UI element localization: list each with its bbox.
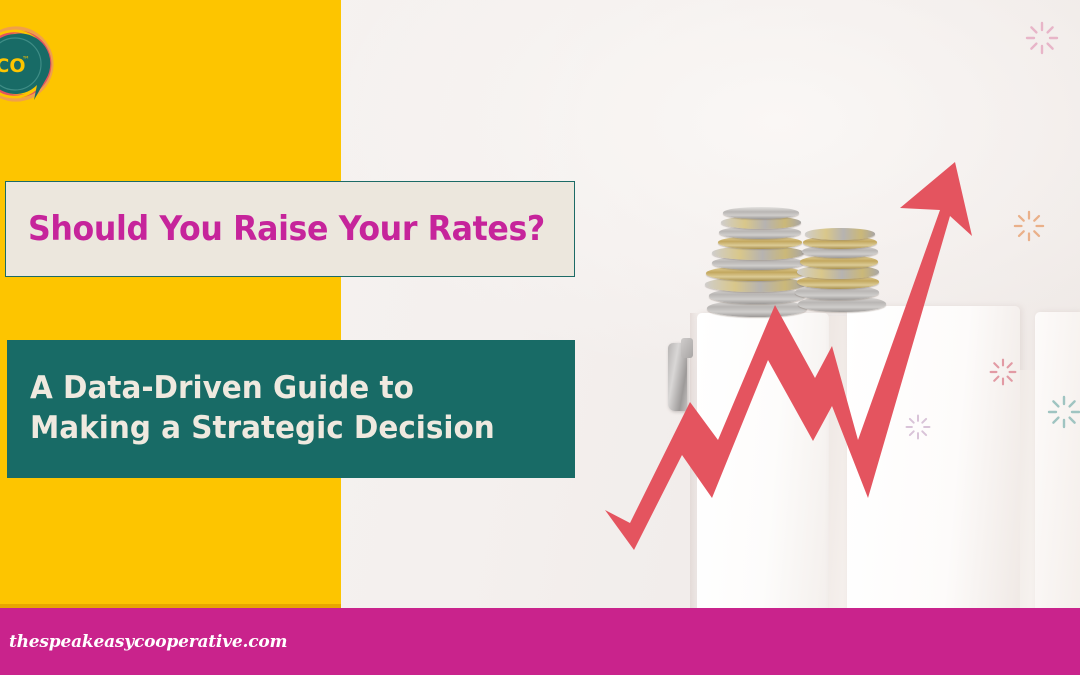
footer-website-url[interactable]: thespeakeasycooperative.com: [9, 632, 287, 652]
headline-text: Should You Raise Your Rates?: [28, 209, 545, 249]
subheadline-box: A Data-Driven Guide to Making a Strategi…: [7, 340, 575, 478]
rising-growth-arrow-icon: [600, 150, 1030, 570]
starburst-pink-top-right-icon: [1025, 21, 1059, 55]
headline-box: Should You Raise Your Rates?: [5, 181, 575, 277]
starburst-teal-right-icon: [1047, 395, 1080, 429]
speakeasy-cooperative-logo[interactable]: ECO ™: [0, 22, 58, 106]
logo-trademark: ™: [22, 55, 30, 64]
subheadline-line-2: Making a Strategic Decision: [30, 409, 547, 449]
starburst-orange-right-icon: [1013, 210, 1045, 242]
subheadline-line-1: A Data-Driven Guide to: [30, 369, 547, 409]
footer-bar: thespeakeasycooperative.com: [0, 608, 1080, 675]
graphic-canvas: ECO ™ Should You Raise Your Rates? A Dat…: [0, 0, 1080, 675]
starburst-rose-mid-icon: [989, 358, 1017, 386]
starburst-lavender-center-icon: [905, 414, 931, 440]
